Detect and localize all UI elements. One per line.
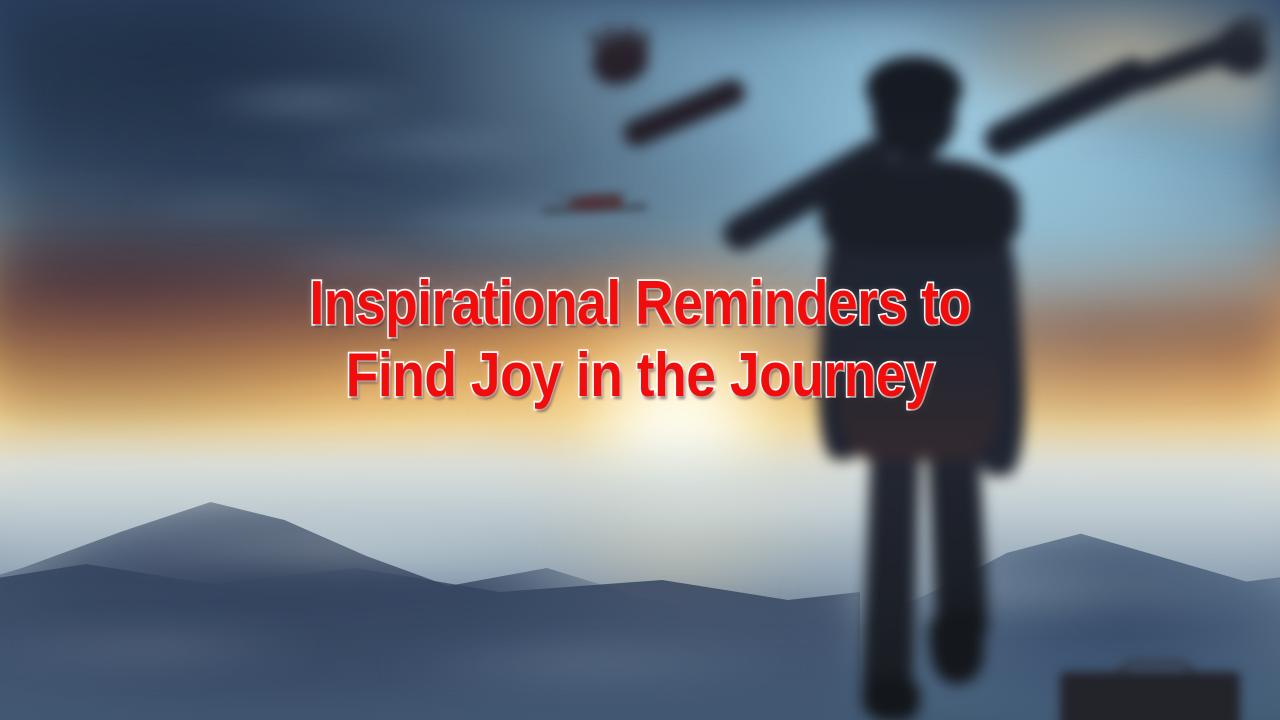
right-upper-arm xyxy=(979,53,1156,162)
shoulders xyxy=(820,158,1020,254)
title-block: Inspirational Reminders to Find Joy in t… xyxy=(0,268,1280,412)
banner-image: Inspirational Reminders to Find Joy in t… xyxy=(0,0,1280,720)
hair xyxy=(866,56,962,118)
left-finger-4 xyxy=(639,30,650,57)
title-line-2: Find Joy in the Journey xyxy=(90,340,1191,412)
left-shoe xyxy=(863,677,921,720)
right-finger-3 xyxy=(1256,18,1266,46)
briefcase-icon xyxy=(1060,672,1240,720)
title-line-1: Inspirational Reminders to xyxy=(90,268,1191,340)
left-leg xyxy=(861,439,921,719)
right-shoe xyxy=(926,609,987,686)
left-forearm xyxy=(619,75,749,151)
